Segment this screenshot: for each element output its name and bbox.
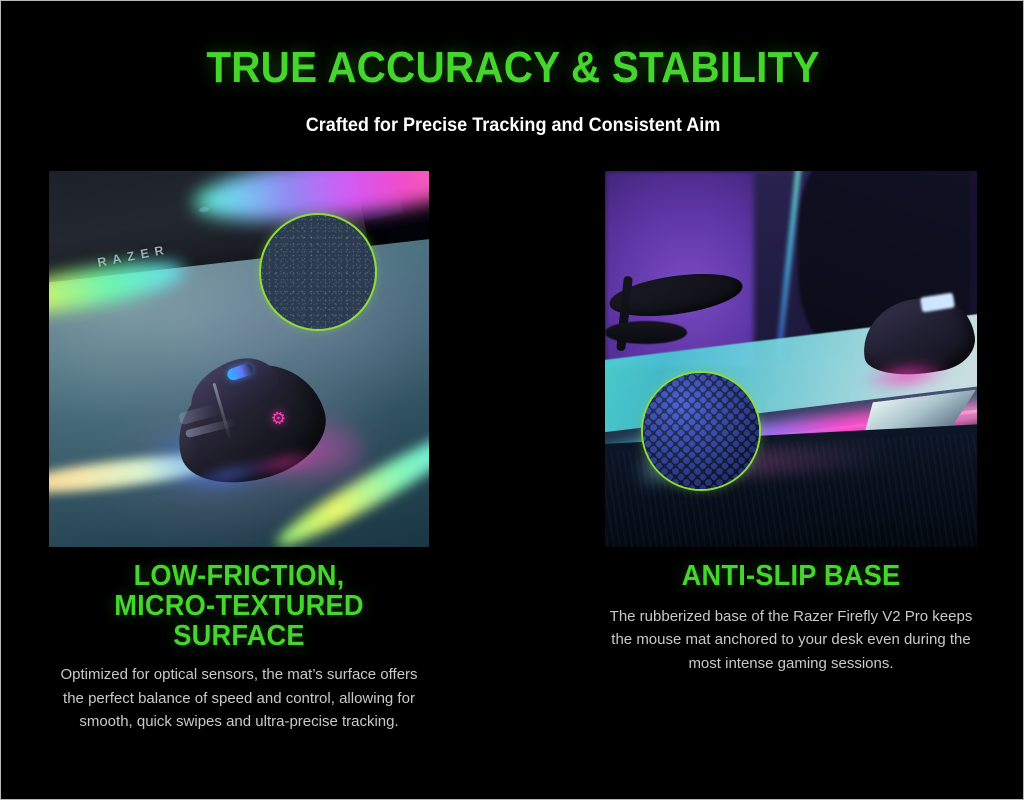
feature-column-anti-slip-base: ANTI-SLIP BASE The rubberized base of th… (605, 171, 977, 675)
page-title: TRUE ACCURACY & STABILITY (42, 45, 984, 91)
microphone-base (605, 321, 687, 344)
feature-title-line-2: MICRO-TEXTURED (60, 591, 417, 621)
feature-image-anti-slip-base (605, 171, 977, 547)
feature-title-line-1: ANTI-SLIP BASE (616, 561, 966, 591)
feature-title-low-friction-surface: LOW-FRICTION, MICRO-TEXTURED SURFACE (60, 561, 417, 651)
feature-title-line-3: SURFACE (60, 621, 417, 651)
feature-title-line-1: LOW-FRICTION, (60, 561, 417, 591)
feature-title-anti-slip-base: ANTI-SLIP BASE (616, 561, 966, 591)
feature-column-low-friction-surface: RAZER ⚙ LOW-FRICTION, (49, 171, 429, 733)
product-feature-panel: TRUE ACCURACY & STABILITY Crafted for Pr… (0, 0, 1024, 800)
gaming-mouse: ⚙ (167, 356, 337, 496)
page-subtitle: Crafted for Precise Tracking and Consist… (27, 115, 1000, 137)
honeycomb-shading (643, 373, 759, 489)
base-texture-callout-circle (641, 371, 761, 491)
feature-image-low-friction-surface: RAZER ⚙ (49, 171, 429, 547)
surface-texture-callout-circle (259, 213, 377, 331)
feature-body-low-friction-surface: Optimized for optical sensors, the mat’s… (49, 663, 429, 733)
feature-body-anti-slip-base: The rubberized base of the Razer Firefly… (605, 605, 977, 675)
